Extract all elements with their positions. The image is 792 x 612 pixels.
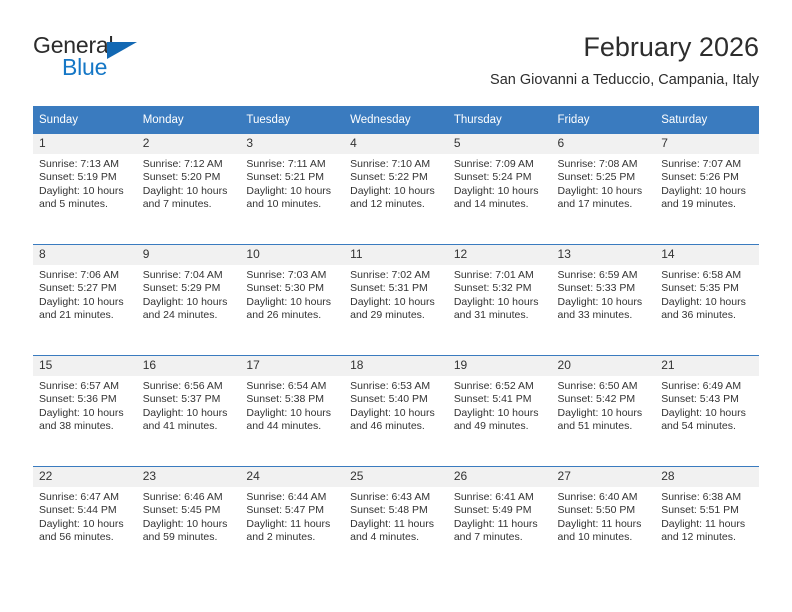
calendar-week-row: 1 Sunrise: 7:13 AM Sunset: 5:19 PM Dayli… [33,134,759,245]
calendar-day-cell[interactable]: 9 Sunrise: 7:04 AM Sunset: 5:29 PM Dayli… [137,245,241,356]
sunrise-text: Sunrise: 7:06 AM [39,269,131,282]
day-details: Sunrise: 7:06 AM Sunset: 5:27 PM Dayligh… [33,265,137,322]
calendar-day-cell[interactable]: 12 Sunrise: 7:01 AM Sunset: 5:32 PM Dayl… [448,245,552,356]
sunset-text: Sunset: 5:40 PM [350,393,442,406]
calendar-week-row: 15 Sunrise: 6:57 AM Sunset: 5:36 PM Dayl… [33,356,759,467]
sunset-text: Sunset: 5:19 PM [39,171,131,184]
day-number: 3 [240,134,344,154]
daylight-text: Daylight: 10 hours and 59 minutes. [143,518,235,545]
sunset-text: Sunset: 5:22 PM [350,171,442,184]
day-number: 24 [240,467,344,487]
sunset-text: Sunset: 5:42 PM [558,393,650,406]
sunrise-text: Sunrise: 6:54 AM [246,380,338,393]
sunset-text: Sunset: 5:32 PM [454,282,546,295]
day-number: 4 [344,134,448,154]
calendar-day-cell[interactable]: 15 Sunrise: 6:57 AM Sunset: 5:36 PM Dayl… [33,356,137,467]
weekday-header-thursday: Thursday [448,106,552,134]
calendar-day-cell[interactable]: 4 Sunrise: 7:10 AM Sunset: 5:22 PM Dayli… [344,134,448,245]
calendar-day-cell[interactable]: 28 Sunrise: 6:38 AM Sunset: 5:51 PM Dayl… [655,467,759,578]
calendar-day-cell[interactable]: 26 Sunrise: 6:41 AM Sunset: 5:49 PM Dayl… [448,467,552,578]
sunrise-text: Sunrise: 7:10 AM [350,158,442,171]
sunrise-text: Sunrise: 6:59 AM [558,269,650,282]
day-details: Sunrise: 6:43 AM Sunset: 5:48 PM Dayligh… [344,487,448,544]
calendar-day-cell[interactable]: 14 Sunrise: 6:58 AM Sunset: 5:35 PM Dayl… [655,245,759,356]
daylight-text: Daylight: 10 hours and 33 minutes. [558,296,650,323]
calendar-day-cell[interactable]: 11 Sunrise: 7:02 AM Sunset: 5:31 PM Dayl… [344,245,448,356]
sunrise-text: Sunrise: 6:41 AM [454,491,546,504]
calendar-week-row: 8 Sunrise: 7:06 AM Sunset: 5:27 PM Dayli… [33,245,759,356]
daylight-text: Daylight: 10 hours and 56 minutes. [39,518,131,545]
calendar-day-cell[interactable]: 27 Sunrise: 6:40 AM Sunset: 5:50 PM Dayl… [552,467,656,578]
sunset-text: Sunset: 5:37 PM [143,393,235,406]
day-number: 14 [655,245,759,265]
daylight-text: Daylight: 10 hours and 5 minutes. [39,185,131,212]
logo-triangle-icon [107,42,137,59]
daylight-text: Daylight: 10 hours and 14 minutes. [454,185,546,212]
daylight-text: Daylight: 10 hours and 21 minutes. [39,296,131,323]
day-number: 9 [137,245,241,265]
weekday-header-wednesday: Wednesday [344,106,448,134]
day-details: Sunrise: 6:53 AM Sunset: 5:40 PM Dayligh… [344,376,448,433]
calendar-day-cell[interactable]: 20 Sunrise: 6:50 AM Sunset: 5:42 PM Dayl… [552,356,656,467]
day-number: 1 [33,134,137,154]
sunset-text: Sunset: 5:30 PM [246,282,338,295]
day-details: Sunrise: 6:58 AM Sunset: 5:35 PM Dayligh… [655,265,759,322]
day-number: 17 [240,356,344,376]
day-number: 16 [137,356,241,376]
sunset-text: Sunset: 5:21 PM [246,171,338,184]
calendar-week-row: 22 Sunrise: 6:47 AM Sunset: 5:44 PM Dayl… [33,467,759,578]
sunset-text: Sunset: 5:24 PM [454,171,546,184]
sunset-text: Sunset: 5:26 PM [661,171,753,184]
sunrise-text: Sunrise: 6:40 AM [558,491,650,504]
calendar-day-cell[interactable]: 8 Sunrise: 7:06 AM Sunset: 5:27 PM Dayli… [33,245,137,356]
sunrise-text: Sunrise: 6:53 AM [350,380,442,393]
sunset-text: Sunset: 5:27 PM [39,282,131,295]
sunrise-text: Sunrise: 6:44 AM [246,491,338,504]
sunrise-text: Sunrise: 7:08 AM [558,158,650,171]
day-details: Sunrise: 6:49 AM Sunset: 5:43 PM Dayligh… [655,376,759,433]
day-details: Sunrise: 7:04 AM Sunset: 5:29 PM Dayligh… [137,265,241,322]
day-details: Sunrise: 7:10 AM Sunset: 5:22 PM Dayligh… [344,154,448,211]
sunset-text: Sunset: 5:36 PM [39,393,131,406]
day-details: Sunrise: 7:09 AM Sunset: 5:24 PM Dayligh… [448,154,552,211]
sunrise-text: Sunrise: 6:56 AM [143,380,235,393]
daylight-text: Daylight: 10 hours and 10 minutes. [246,185,338,212]
calendar-day-cell[interactable]: 19 Sunrise: 6:52 AM Sunset: 5:41 PM Dayl… [448,356,552,467]
day-number: 12 [448,245,552,265]
day-number: 26 [448,467,552,487]
daylight-text: Daylight: 10 hours and 17 minutes. [558,185,650,212]
day-number: 19 [448,356,552,376]
day-number: 15 [33,356,137,376]
sunset-text: Sunset: 5:31 PM [350,282,442,295]
calendar-day-cell[interactable]: 23 Sunrise: 6:46 AM Sunset: 5:45 PM Dayl… [137,467,241,578]
daylight-text: Daylight: 10 hours and 49 minutes. [454,407,546,434]
sunrise-text: Sunrise: 7:09 AM [454,158,546,171]
day-number: 25 [344,467,448,487]
calendar-day-cell[interactable]: 22 Sunrise: 6:47 AM Sunset: 5:44 PM Dayl… [33,467,137,578]
sunrise-text: Sunrise: 6:47 AM [39,491,131,504]
sunset-text: Sunset: 5:25 PM [558,171,650,184]
weekday-header-saturday: Saturday [655,106,759,134]
day-details: Sunrise: 6:52 AM Sunset: 5:41 PM Dayligh… [448,376,552,433]
daylight-text: Daylight: 10 hours and 44 minutes. [246,407,338,434]
general-blue-logo[interactable]: General Blue [33,32,163,88]
daylight-text: Daylight: 10 hours and 29 minutes. [350,296,442,323]
page-header: General Blue February 2026 San Giovanni … [33,32,759,100]
calendar-day-cell[interactable]: 24 Sunrise: 6:44 AM Sunset: 5:47 PM Dayl… [240,467,344,578]
day-details: Sunrise: 6:50 AM Sunset: 5:42 PM Dayligh… [552,376,656,433]
calendar-day-cell[interactable]: 21 Sunrise: 6:49 AM Sunset: 5:43 PM Dayl… [655,356,759,467]
sunrise-text: Sunrise: 6:57 AM [39,380,131,393]
daylight-text: Daylight: 11 hours and 10 minutes. [558,518,650,545]
sunset-text: Sunset: 5:33 PM [558,282,650,295]
sunrise-text: Sunrise: 6:43 AM [350,491,442,504]
calendar-day-cell[interactable]: 25 Sunrise: 6:43 AM Sunset: 5:48 PM Dayl… [344,467,448,578]
day-details: Sunrise: 7:07 AM Sunset: 5:26 PM Dayligh… [655,154,759,211]
calendar-day-cell[interactable]: 7 Sunrise: 7:07 AM Sunset: 5:26 PM Dayli… [655,134,759,245]
day-number: 11 [344,245,448,265]
calendar-day-cell[interactable]: 2 Sunrise: 7:12 AM Sunset: 5:20 PM Dayli… [137,134,241,245]
sunset-text: Sunset: 5:38 PM [246,393,338,406]
daylight-text: Daylight: 10 hours and 12 minutes. [350,185,442,212]
daylight-text: Daylight: 10 hours and 51 minutes. [558,407,650,434]
daylight-text: Daylight: 10 hours and 26 minutes. [246,296,338,323]
calendar-page: General Blue February 2026 San Giovanni … [0,0,792,612]
day-details: Sunrise: 6:54 AM Sunset: 5:38 PM Dayligh… [240,376,344,433]
calendar-day-cell[interactable]: 3 Sunrise: 7:11 AM Sunset: 5:21 PM Dayli… [240,134,344,245]
sunrise-text: Sunrise: 7:01 AM [454,269,546,282]
calendar-day-cell[interactable]: 1 Sunrise: 7:13 AM Sunset: 5:19 PM Dayli… [33,134,137,245]
daylight-text: Daylight: 10 hours and 36 minutes. [661,296,753,323]
daylight-text: Daylight: 10 hours and 41 minutes. [143,407,235,434]
sunrise-text: Sunrise: 7:11 AM [246,158,338,171]
title-block: February 2026 San Giovanni a Teduccio, C… [490,32,759,90]
sunrise-text: Sunrise: 7:07 AM [661,158,753,171]
day-number: 20 [552,356,656,376]
sunset-text: Sunset: 5:44 PM [39,504,131,517]
sunrise-text: Sunrise: 6:58 AM [661,269,753,282]
sunrise-text: Sunrise: 7:03 AM [246,269,338,282]
daylight-text: Daylight: 10 hours and 19 minutes. [661,185,753,212]
page-subtitle: San Giovanni a Teduccio, Campania, Italy [490,70,759,90]
sunrise-text: Sunrise: 7:04 AM [143,269,235,282]
sunrise-text: Sunrise: 7:02 AM [350,269,442,282]
day-details: Sunrise: 6:46 AM Sunset: 5:45 PM Dayligh… [137,487,241,544]
day-details: Sunrise: 6:44 AM Sunset: 5:47 PM Dayligh… [240,487,344,544]
sunset-text: Sunset: 5:35 PM [661,282,753,295]
daylight-text: Daylight: 10 hours and 7 minutes. [143,185,235,212]
day-details: Sunrise: 6:41 AM Sunset: 5:49 PM Dayligh… [448,487,552,544]
calendar-day-cell[interactable]: 17 Sunrise: 6:54 AM Sunset: 5:38 PM Dayl… [240,356,344,467]
day-details: Sunrise: 7:12 AM Sunset: 5:20 PM Dayligh… [137,154,241,211]
day-number: 7 [655,134,759,154]
sunset-text: Sunset: 5:29 PM [143,282,235,295]
calendar-day-cell[interactable]: 13 Sunrise: 6:59 AM Sunset: 5:33 PM Dayl… [552,245,656,356]
sunset-text: Sunset: 5:45 PM [143,504,235,517]
day-details: Sunrise: 6:38 AM Sunset: 5:51 PM Dayligh… [655,487,759,544]
weekday-header-tuesday: Tuesday [240,106,344,134]
day-details: Sunrise: 7:13 AM Sunset: 5:19 PM Dayligh… [33,154,137,211]
page-title: February 2026 [490,32,759,62]
calendar-day-cell[interactable]: 6 Sunrise: 7:08 AM Sunset: 5:25 PM Dayli… [552,134,656,245]
day-details: Sunrise: 6:56 AM Sunset: 5:37 PM Dayligh… [137,376,241,433]
sunset-text: Sunset: 5:49 PM [454,504,546,517]
day-details: Sunrise: 7:11 AM Sunset: 5:21 PM Dayligh… [240,154,344,211]
day-number: 23 [137,467,241,487]
daylight-text: Daylight: 11 hours and 4 minutes. [350,518,442,545]
weekday-header-sunday: Sunday [33,106,137,134]
calendar-day-cell[interactable]: 18 Sunrise: 6:53 AM Sunset: 5:40 PM Dayl… [344,356,448,467]
daylight-text: Daylight: 11 hours and 12 minutes. [661,518,753,545]
day-details: Sunrise: 6:57 AM Sunset: 5:36 PM Dayligh… [33,376,137,433]
sunset-text: Sunset: 5:43 PM [661,393,753,406]
sunset-text: Sunset: 5:20 PM [143,171,235,184]
calendar-day-cell[interactable]: 16 Sunrise: 6:56 AM Sunset: 5:37 PM Dayl… [137,356,241,467]
weekday-header-friday: Friday [552,106,656,134]
daylight-text: Daylight: 10 hours and 46 minutes. [350,407,442,434]
day-number: 13 [552,245,656,265]
daylight-text: Daylight: 11 hours and 7 minutes. [454,518,546,545]
weekday-header-monday: Monday [137,106,241,134]
day-number: 6 [552,134,656,154]
sunrise-text: Sunrise: 6:50 AM [558,380,650,393]
day-number: 27 [552,467,656,487]
daylight-text: Daylight: 10 hours and 31 minutes. [454,296,546,323]
daylight-text: Daylight: 10 hours and 54 minutes. [661,407,753,434]
day-details: Sunrise: 7:01 AM Sunset: 5:32 PM Dayligh… [448,265,552,322]
sunset-text: Sunset: 5:50 PM [558,504,650,517]
day-details: Sunrise: 7:02 AM Sunset: 5:31 PM Dayligh… [344,265,448,322]
daylight-text: Daylight: 10 hours and 38 minutes. [39,407,131,434]
sunset-text: Sunset: 5:51 PM [661,504,753,517]
calendar-day-cell[interactable]: 5 Sunrise: 7:09 AM Sunset: 5:24 PM Dayli… [448,134,552,245]
daylight-text: Daylight: 11 hours and 2 minutes. [246,518,338,545]
day-number: 21 [655,356,759,376]
day-number: 2 [137,134,241,154]
calendar-day-cell[interactable]: 10 Sunrise: 7:03 AM Sunset: 5:30 PM Dayl… [240,245,344,356]
day-number: 22 [33,467,137,487]
sunrise-text: Sunrise: 6:49 AM [661,380,753,393]
calendar-body: 1 Sunrise: 7:13 AM Sunset: 5:19 PM Dayli… [33,134,759,577]
sunrise-text: Sunrise: 7:12 AM [143,158,235,171]
day-number: 10 [240,245,344,265]
day-details: Sunrise: 7:08 AM Sunset: 5:25 PM Dayligh… [552,154,656,211]
sunrise-sunset-calendar: Sunday Monday Tuesday Wednesday Thursday… [33,106,759,577]
sunset-text: Sunset: 5:47 PM [246,504,338,517]
day-number: 5 [448,134,552,154]
day-details: Sunrise: 6:59 AM Sunset: 5:33 PM Dayligh… [552,265,656,322]
day-number: 28 [655,467,759,487]
day-details: Sunrise: 7:03 AM Sunset: 5:30 PM Dayligh… [240,265,344,322]
sunset-text: Sunset: 5:48 PM [350,504,442,517]
day-number: 8 [33,245,137,265]
sunrise-text: Sunrise: 6:46 AM [143,491,235,504]
logo-text-blue: Blue [62,54,107,81]
day-details: Sunrise: 6:40 AM Sunset: 5:50 PM Dayligh… [552,487,656,544]
sunset-text: Sunset: 5:41 PM [454,393,546,406]
sunrise-text: Sunrise: 6:38 AM [661,491,753,504]
calendar-header-row: Sunday Monday Tuesday Wednesday Thursday… [33,106,759,134]
sunrise-text: Sunrise: 7:13 AM [39,158,131,171]
sunrise-text: Sunrise: 6:52 AM [454,380,546,393]
day-details: Sunrise: 6:47 AM Sunset: 5:44 PM Dayligh… [33,487,137,544]
day-number: 18 [344,356,448,376]
daylight-text: Daylight: 10 hours and 24 minutes. [143,296,235,323]
